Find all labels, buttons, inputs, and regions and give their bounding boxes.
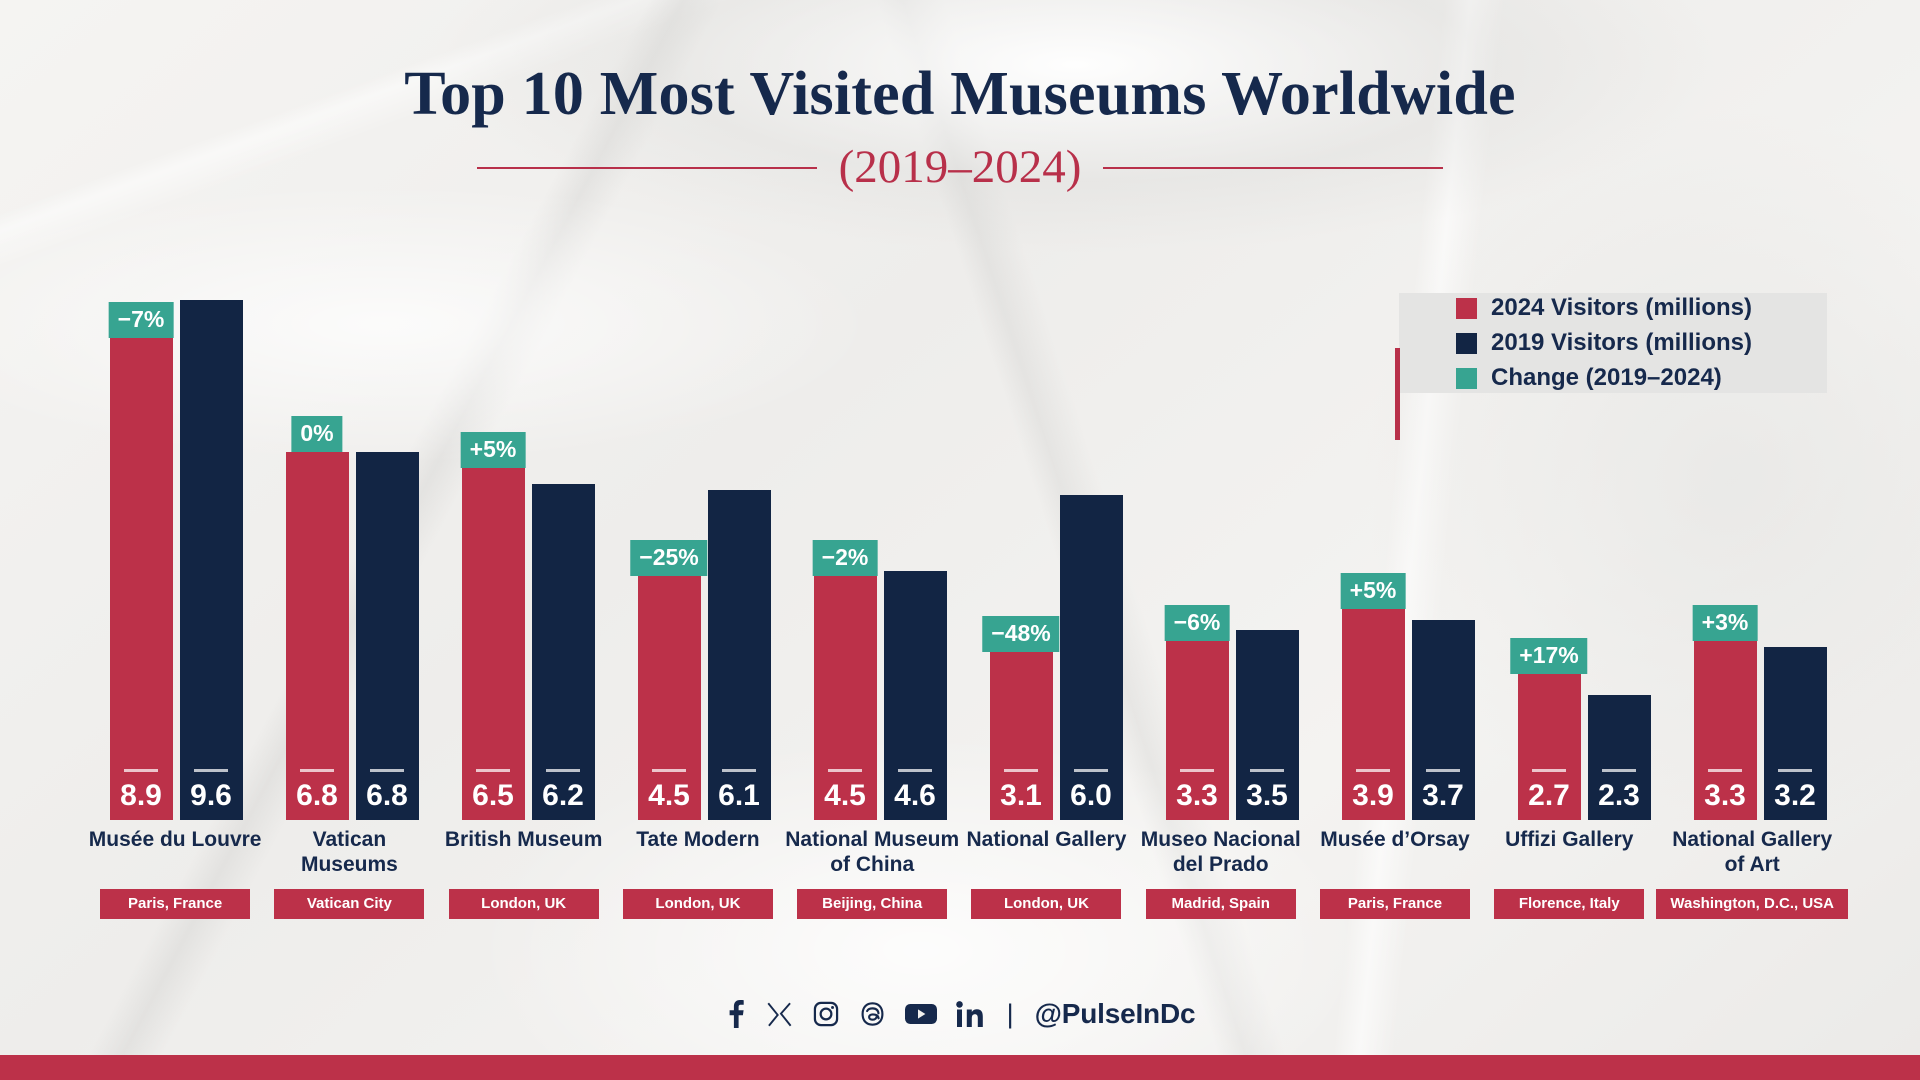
footer-social-row: | @PulseInDc — [0, 998, 1920, 1030]
bar-2024[interactable]: +5%3.9 — [1342, 609, 1405, 820]
x-axis-label-cell: Musée d’OrsayParis, France — [1308, 828, 1482, 919]
footer-handle: @PulseInDc — [1035, 998, 1196, 1030]
x-axis-label-cell: National Museum of ChinaBeijing, China — [785, 828, 959, 919]
chart-title: Top 10 Most Visited Museums Worldwide — [0, 62, 1920, 127]
x-axis-label-cell: Vatican MuseumsVatican City — [262, 828, 436, 919]
chart-subtitle-row: (2019–2024) — [0, 144, 1920, 191]
subtitle-rule-left — [477, 167, 817, 169]
x-axis-label-cell: Uffizi GalleryFlorence, Italy — [1482, 828, 1656, 919]
value-rule — [828, 769, 862, 772]
bar-column: +5%3.9 — [1342, 609, 1405, 820]
value-label-2019: 3.5 — [1246, 781, 1288, 811]
bar-2024[interactable]: −6%3.3 — [1166, 641, 1229, 820]
value-label-2024: 6.8 — [296, 781, 338, 811]
value-label-2024: 8.9 — [120, 781, 162, 811]
value-label-2024: 3.1 — [1000, 781, 1042, 811]
chart-header: Top 10 Most Visited Museums Worldwide (2… — [0, 62, 1920, 191]
value-rule — [546, 769, 580, 772]
value-rule — [1426, 769, 1460, 772]
value-rule — [1602, 769, 1636, 772]
bar-group: 0%6.86.8 — [264, 300, 440, 820]
change-badge: +3% — [1693, 605, 1758, 641]
value-rule — [194, 769, 228, 772]
bar-column: +17%2.7 — [1518, 674, 1581, 820]
bar-group: +5%6.56.2 — [440, 300, 616, 820]
bar-column: 2.3 — [1588, 695, 1651, 820]
museum-name: Museo Nacional del Prado — [1141, 828, 1301, 878]
museum-name: National Gallery of Art — [1672, 828, 1832, 878]
value-label-2019: 6.1 — [718, 781, 760, 811]
bar-column: 0%6.8 — [286, 452, 349, 820]
bar-2024[interactable]: −25%4.5 — [638, 576, 701, 820]
bar-group: −25%4.56.1 — [616, 300, 792, 820]
value-rule — [300, 769, 334, 772]
value-rule — [1004, 769, 1038, 772]
bar-2024[interactable]: −7%8.9 — [110, 338, 173, 820]
value-rule — [1708, 769, 1742, 772]
bar-group: −7%8.99.6 — [88, 300, 264, 820]
museum-name: Tate Modern — [636, 828, 759, 878]
bar-group: −6%3.33.5 — [1144, 300, 1320, 820]
value-label-2019: 2.3 — [1598, 781, 1640, 811]
x-axis-label-cell: Musée du LouvreParis, France — [88, 828, 262, 919]
bar-column: 6.0 — [1060, 495, 1123, 820]
bar-2024[interactable]: −2%4.5 — [814, 576, 877, 820]
value-rule — [1532, 769, 1566, 772]
bar-group: +5%3.93.7 — [1320, 300, 1496, 820]
bar-2019[interactable]: 4.6 — [884, 571, 947, 820]
x-axis-label-cell: National Gallery of ArtWashington, D.C.,… — [1656, 828, 1848, 919]
value-label-2024: 3.9 — [1352, 781, 1394, 811]
bar-column: −25%4.5 — [638, 576, 701, 820]
value-label-2019: 9.6 — [190, 781, 232, 811]
footer-divider: | — [1007, 999, 1014, 1030]
bar-2019[interactable]: 2.3 — [1588, 695, 1651, 820]
bar-column: 9.6 — [180, 300, 243, 820]
value-label-2024: 6.5 — [472, 781, 514, 811]
change-badge: −48% — [982, 616, 1059, 652]
value-label-2019: 6.2 — [542, 781, 584, 811]
change-badge: −25% — [630, 540, 707, 576]
value-label-2019: 6.8 — [366, 781, 408, 811]
x-axis-label-cell: Tate ModernLondon, UK — [611, 828, 785, 919]
location-badge: Paris, France — [100, 889, 250, 919]
bar-2024[interactable]: +5%6.5 — [462, 468, 525, 820]
museum-name: Uffizi Gallery — [1505, 828, 1633, 878]
bar-column: −2%4.5 — [814, 576, 877, 820]
value-label-2024: 4.5 — [824, 781, 866, 811]
bar-2019[interactable]: 3.5 — [1236, 630, 1299, 820]
x-axis-label-row: Musée du LouvreParis, FranceVatican Muse… — [88, 828, 1848, 919]
location-badge: London, UK — [623, 889, 773, 919]
value-rule — [370, 769, 404, 772]
bar-column: 3.2 — [1764, 647, 1827, 820]
location-badge: London, UK — [449, 889, 599, 919]
bar-group: +3%3.33.2 — [1672, 300, 1848, 820]
bar-column: 3.7 — [1412, 620, 1475, 820]
location-badge: Vatican City — [274, 889, 424, 919]
location-badge: Paris, France — [1320, 889, 1470, 919]
value-rule — [652, 769, 686, 772]
chart-subtitle: (2019–2024) — [839, 144, 1082, 191]
value-label-2024: 3.3 — [1704, 781, 1746, 811]
value-label-2019: 3.2 — [1774, 781, 1816, 811]
bar-2024[interactable]: 0%6.8 — [286, 452, 349, 820]
x-axis-label-cell: National GalleryLondon, UK — [959, 828, 1133, 919]
x-twitter-icon[interactable] — [766, 1001, 793, 1028]
value-rule — [1778, 769, 1812, 772]
bar-2019[interactable]: 9.6 — [180, 300, 243, 820]
change-badge: +17% — [1510, 638, 1587, 674]
change-badge: −2% — [813, 540, 878, 576]
museum-name: Musée du Louvre — [89, 828, 262, 878]
bar-group: −2%4.54.6 — [792, 300, 968, 820]
facebook-icon[interactable] — [725, 999, 747, 1029]
value-label-2019: 4.6 — [894, 781, 936, 811]
value-rule — [1356, 769, 1390, 772]
youtube-icon[interactable] — [905, 1002, 937, 1026]
bar-2024[interactable]: +17%2.7 — [1518, 674, 1581, 820]
x-axis-label-cell: Museo Nacional del PradoMadrid, Spain — [1134, 828, 1308, 919]
bar-2019[interactable]: 3.7 — [1412, 620, 1475, 820]
value-label-2019: 3.7 — [1422, 781, 1464, 811]
change-badge: −6% — [1165, 605, 1230, 641]
infographic-chart-page: Top 10 Most Visited Museums Worldwide (2… — [0, 0, 1920, 1080]
bar-2019[interactable]: 6.1 — [708, 490, 771, 820]
value-rule — [1250, 769, 1284, 772]
value-label-2024: 2.7 — [1528, 781, 1570, 811]
value-label-2019: 6.0 — [1070, 781, 1112, 811]
value-label-2024: 3.3 — [1176, 781, 1218, 811]
value-rule — [476, 769, 510, 772]
location-badge: London, UK — [971, 889, 1121, 919]
linkedin-icon[interactable] — [956, 1001, 986, 1028]
museum-name: National Museum of China — [785, 828, 959, 878]
bar-column: −7%8.9 — [110, 338, 173, 820]
bar-2024[interactable]: +3%3.3 — [1694, 641, 1757, 820]
museum-name: Vatican Museums — [262, 828, 436, 878]
bar-column: 4.6 — [884, 571, 947, 820]
bar-2019[interactable]: 3.2 — [1764, 647, 1827, 820]
value-rule — [124, 769, 158, 772]
instagram-icon[interactable] — [812, 1000, 840, 1028]
change-badge: +5% — [1341, 573, 1406, 609]
change-badge: −7% — [109, 302, 174, 338]
location-badge: Washington, D.C., USA — [1656, 889, 1848, 919]
value-rule — [1180, 769, 1214, 772]
location-badge: Florence, Italy — [1494, 889, 1644, 919]
museum-name: British Museum — [445, 828, 603, 878]
bar-group: +17%2.72.3 — [1496, 300, 1672, 820]
value-rule — [722, 769, 756, 772]
bottom-accent-bar — [0, 1055, 1920, 1080]
bar-2019[interactable]: 6.8 — [356, 452, 419, 820]
bar-chart-plot-area: −7%8.99.60%6.86.8+5%6.56.2−25%4.56.1−2%4… — [88, 300, 1848, 820]
bar-column: 6.2 — [532, 484, 595, 820]
bar-column: −48%3.1 — [990, 652, 1053, 820]
bar-2019[interactable]: 6.2 — [532, 484, 595, 820]
change-badge: +5% — [461, 432, 526, 468]
location-badge: Madrid, Spain — [1146, 889, 1296, 919]
value-rule — [898, 769, 932, 772]
bar-column: −6%3.3 — [1166, 641, 1229, 820]
change-badge: 0% — [291, 416, 342, 452]
museum-name: National Gallery — [967, 828, 1127, 878]
bar-2024[interactable]: −48%3.1 — [990, 652, 1053, 820]
bar-column: 6.8 — [356, 452, 419, 820]
bar-column: 6.1 — [708, 490, 771, 820]
bar-column: 3.5 — [1236, 630, 1299, 820]
threads-icon[interactable] — [859, 1000, 886, 1028]
bar-column: +3%3.3 — [1694, 641, 1757, 820]
bar-column: +5%6.5 — [462, 468, 525, 820]
bar-2019[interactable]: 6.0 — [1060, 495, 1123, 820]
museum-name: Musée d’Orsay — [1320, 828, 1469, 878]
bar-group: −48%3.16.0 — [968, 300, 1144, 820]
value-label-2024: 4.5 — [648, 781, 690, 811]
location-badge: Beijing, China — [797, 889, 947, 919]
subtitle-rule-right — [1103, 167, 1443, 169]
value-rule — [1074, 769, 1108, 772]
x-axis-label-cell: British MuseumLondon, UK — [437, 828, 611, 919]
